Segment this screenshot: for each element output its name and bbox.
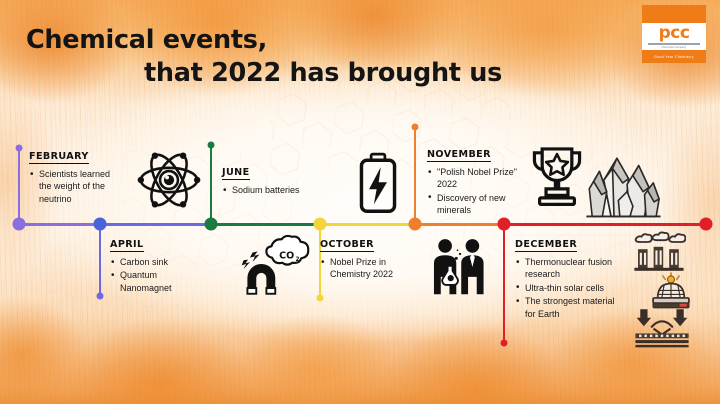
list-item: Carbon sink	[110, 256, 205, 268]
solar-panel-icon	[645, 271, 697, 311]
event-month-february: FEBRUARY	[29, 151, 89, 164]
svg-text:CO: CO	[279, 250, 294, 261]
event-november[interactable]: NOVEMBER "Polish Nobel Prize" 2022 Disco…	[427, 144, 525, 218]
stem-february	[18, 148, 20, 223]
node-timeline-end	[700, 218, 713, 231]
event-december[interactable]: DECEMBER Thermonuclear fusion research U…	[515, 234, 625, 321]
stem-april	[99, 223, 101, 296]
logo-subtitle: chemical company	[642, 46, 706, 50]
event-bullets-november: "Polish Nobel Prize" 2022 Discovery of n…	[427, 166, 525, 217]
two-scientists-icon	[429, 237, 491, 297]
mineral-crystals-icon	[582, 146, 662, 220]
event-april[interactable]: APRIL Carbon sink Quantum Nanomagnet	[110, 234, 205, 295]
stem-december	[503, 223, 505, 343]
list-item: Thermonuclear fusion research	[515, 256, 625, 281]
list-item: Scientists learned the weight of the neu…	[29, 168, 111, 205]
event-june[interactable]: JUNE Sodium batteries	[222, 162, 327, 197]
list-item: "Polish Nobel Prize" 2022	[427, 166, 525, 191]
stem-june	[210, 145, 212, 223]
axis-segment-february	[18, 223, 100, 226]
axis-segment-october	[319, 223, 415, 226]
title-line-2: that 2022 has brought us	[144, 57, 496, 90]
stem-cap-april	[97, 293, 104, 300]
trophy-star-icon	[528, 143, 586, 209]
list-item: Quantum Nanomagnet	[110, 269, 205, 294]
list-item: The strongest material for Earth	[515, 295, 625, 320]
stem-cap-december	[501, 340, 508, 347]
logo-wordmark: pcc	[642, 25, 706, 42]
axis-segment-april	[99, 223, 211, 226]
stem-cap-october	[317, 295, 324, 302]
event-bullets-december: Thermonuclear fusion research Ultra-thin…	[515, 256, 625, 320]
stem-cap-november	[412, 124, 419, 131]
svg-text:2: 2	[296, 257, 300, 263]
event-february[interactable]: FEBRUARY Scientists learned the weight o…	[29, 146, 111, 206]
node-november[interactable]	[409, 218, 422, 231]
title-line-1: Chemical events,	[26, 24, 496, 57]
stem-cap-june	[208, 142, 215, 149]
page-title: Chemical events, that 2022 has brought u…	[26, 24, 496, 89]
list-item: Nobel Prize in Chemistry 2022	[320, 256, 412, 281]
list-item: Discovery of new minerals	[427, 192, 525, 217]
power-plant-icon	[632, 231, 686, 271]
stem-cap-february	[16, 145, 23, 152]
infographic-canvas: Chemical events, that 2022 has brought u…	[0, 0, 720, 404]
event-month-october: OCTOBER	[320, 239, 374, 252]
node-december[interactable]	[498, 218, 511, 231]
atom-icon	[137, 148, 201, 212]
event-month-april: APRIL	[110, 239, 144, 252]
pcc-logo[interactable]: pcc chemical company Good Year Chemistry	[642, 5, 706, 63]
node-april[interactable]	[94, 218, 107, 231]
axis-segment-december	[503, 223, 706, 226]
list-item: Sodium batteries	[222, 184, 327, 196]
logo-divider	[648, 43, 700, 45]
node-october[interactable]	[314, 218, 327, 231]
material-compression-icon	[633, 308, 691, 348]
event-bullets-october: Nobel Prize in Chemistry 2022	[320, 256, 412, 281]
logo-top-bar	[642, 5, 706, 23]
event-bullets-april: Carbon sink Quantum Nanomagnet	[110, 256, 205, 294]
event-month-june: JUNE	[222, 167, 250, 180]
magnet-co2-icon: CO 2	[236, 232, 312, 296]
node-june[interactable]	[205, 218, 218, 231]
logo-wordmark-block: pcc chemical company	[642, 23, 706, 50]
list-item: Ultra-thin solar cells	[515, 282, 625, 294]
node-february[interactable]	[13, 218, 26, 231]
stem-november	[414, 127, 416, 223]
event-bullets-february: Scientists learned the weight of the neu…	[29, 168, 111, 205]
event-bullets-june: Sodium batteries	[222, 184, 327, 196]
axis-segment-june	[210, 223, 320, 226]
battery-lightning-icon	[357, 152, 399, 214]
logo-tagline: Good Year Chemistry	[642, 50, 706, 63]
event-month-december: DECEMBER	[515, 239, 577, 252]
event-october[interactable]: OCTOBER Nobel Prize in Chemistry 2022	[320, 234, 412, 282]
event-month-november: NOVEMBER	[427, 149, 491, 162]
axis-segment-november	[414, 223, 504, 226]
